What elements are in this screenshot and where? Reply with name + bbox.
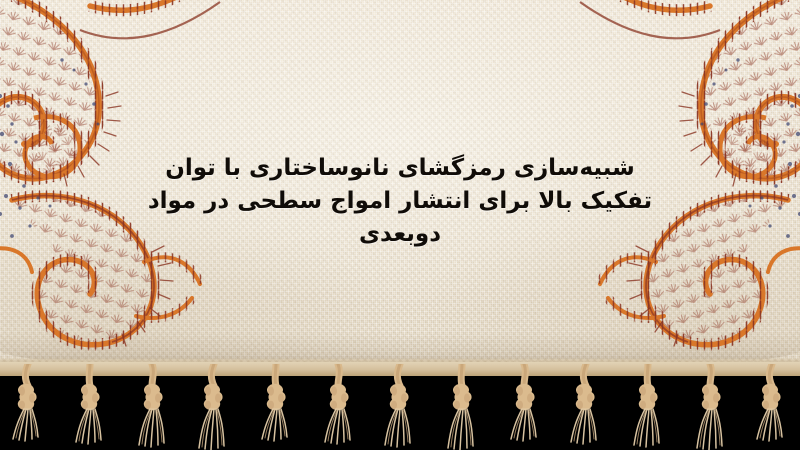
presentation-slide: شبیه‌سازی رمزگشای نانوساختاری با توان تف…	[0, 0, 800, 450]
tassel	[502, 364, 546, 450]
tassel-fringe	[0, 362, 800, 450]
tassel	[130, 364, 174, 450]
title-line-2: تفکیک بالا برای انتشار امواج سطحی در موا…	[0, 185, 800, 218]
title-line-1: شبیه‌سازی رمزگشای نانوساختاری با توان	[0, 152, 800, 185]
tassel	[6, 364, 50, 450]
tassel	[68, 364, 112, 450]
tassel	[192, 364, 236, 450]
title-line-3: دوبعدی	[0, 218, 800, 251]
tassel	[626, 364, 670, 450]
tassel	[440, 364, 484, 450]
tassel	[750, 364, 794, 450]
tassel	[316, 364, 360, 450]
tassel	[688, 364, 732, 450]
tassel	[254, 364, 298, 450]
slide-title: شبیه‌سازی رمزگشای نانوساختاری با توان تف…	[0, 152, 800, 251]
tassel	[378, 364, 422, 450]
tassel	[564, 364, 608, 450]
